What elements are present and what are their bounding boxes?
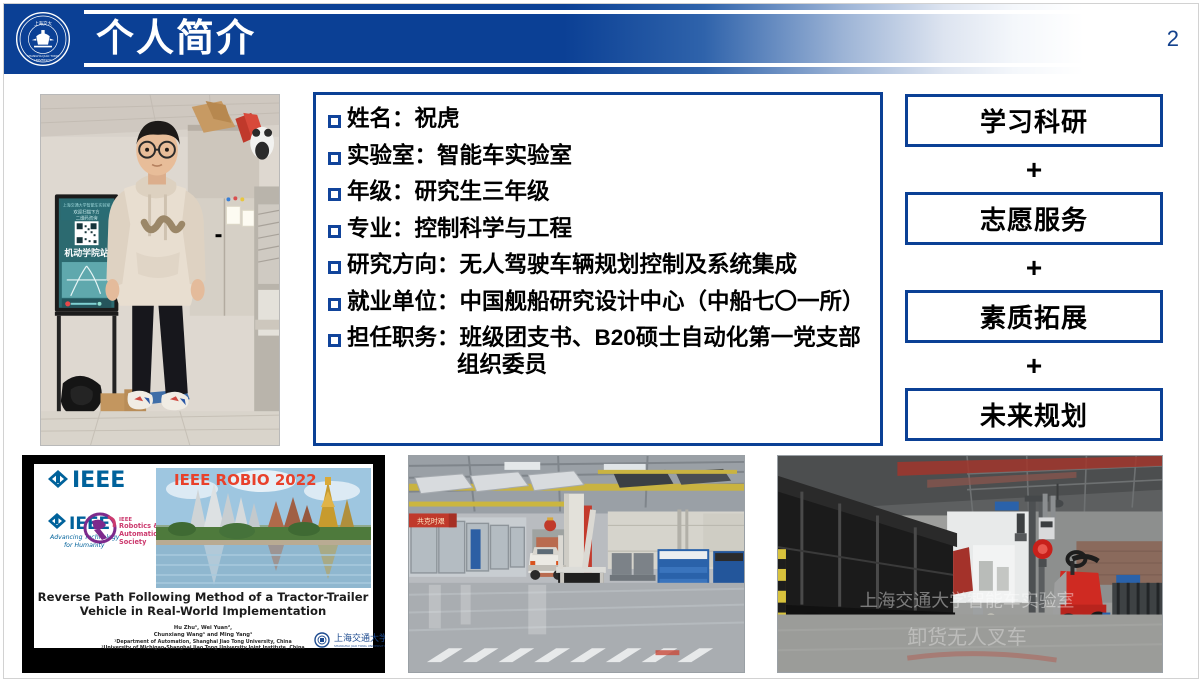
list-item-text: 姓名：祝虎 (347, 106, 460, 133)
square-bullet-icon (328, 261, 341, 274)
list-item-text: 担任职务：班级团支书、B20硕士自动化第一党支部组织委员 (347, 325, 861, 378)
student-portrait-photo: 上海交通大学智能车实验室 欢迎扫描下方 二维码咨询 机动学院站 (40, 94, 280, 446)
list-item-text: 研究方向：无人驾驶车辆规划控制及系统集成 (347, 252, 797, 279)
svg-text:IEEE: IEEE (72, 468, 125, 493)
portrait-illustration: 上海交通大学智能车实验室 欢迎扫描下方 二维码咨询 机动学院站 (41, 95, 279, 445)
page-title: 个人简介 (96, 15, 256, 63)
title-rule-bottom (84, 63, 1122, 67)
list-item: 研究方向：无人驾驶车辆规划控制及系统集成 (328, 252, 872, 279)
list-item-text: 实验室：智能车实验室 (347, 143, 572, 170)
plus-separator-1: + (1026, 147, 1042, 192)
list-item: 姓名：祝虎 (328, 106, 872, 133)
pillar-label: 志愿服务 (980, 200, 1088, 237)
list-item: 担任职务：班级团支书、B20硕士自动化第一党支部组织委员 (328, 325, 872, 378)
pillar-label: 素质拓展 (980, 298, 1088, 335)
svg-text:SHANGHAI JIAO TONG UNIVERSITY: SHANGHAI JIAO TONG UNIVERSITY (334, 644, 385, 648)
svg-text:Reverse Path Following Method: Reverse Path Following Method of a Tract… (38, 590, 369, 604)
svg-text:机动学院站: 机动学院站 (64, 247, 109, 259)
list-item-text: 年级：研究生三年级 (347, 179, 550, 206)
svg-text:¹Department of Automation, Sha: ¹Department of Automation, Shanghai Jiao… (114, 639, 291, 645)
forklift-illustration: 上海交通大学智能车实验室 卸货无人叉车 (778, 456, 1162, 672)
sjtu-university-seal-icon: 上海交大 SHANGHAI JIAO TONG UNIVERSITY (15, 11, 71, 67)
square-bullet-icon (328, 298, 341, 311)
svg-text:Robotics &: Robotics & (119, 522, 159, 530)
conference-venue-photo: IEEE ROBIO 2022 (156, 468, 371, 588)
svg-text:IEEE ROBIO 2022: IEEE ROBIO 2022 (174, 471, 317, 489)
pillar-box-quality-development[interactable]: 素质拓展 (905, 290, 1163, 343)
profile-info-box: 姓名：祝虎 实验室：智能车实验室 年级：研究生三年级 专业：控制科学与工程 研究… (313, 92, 883, 446)
svg-text:欢迎扫描下方: 欢迎扫描下方 (74, 208, 101, 215)
slide-canvas: 上海交大 SHANGHAI JIAO TONG UNIVERSITY 个人简介 … (0, 0, 1203, 683)
svg-text:Society: Society (119, 538, 147, 546)
list-item: 年级：研究生三年级 (328, 179, 872, 206)
list-item: 实验室：智能车实验室 (328, 143, 872, 170)
pillar-box-future-plan[interactable]: 未来规划 (905, 388, 1163, 441)
square-bullet-icon (328, 225, 341, 238)
square-bullet-icon (328, 115, 341, 128)
plus-separator-3: + (1026, 343, 1042, 388)
page-number: 2 (1167, 26, 1179, 52)
svg-text:Vehicle in Real-World Implemen: Vehicle in Real-World Implementation (80, 604, 327, 618)
title-rule-top (84, 10, 1122, 14)
ieee-robio-2022-paper-title-slide: IEEE IEEE Advancing Technology for Human… (22, 455, 385, 673)
watermark-line-2: 卸货无人叉车 (907, 626, 1026, 649)
growth-pillars-column: 学习科研 + 志愿服务 + 素质拓展 + 未来规划 (905, 94, 1163, 441)
svg-text:Chunxiang Wang¹ and Ming Yang¹: Chunxiang Wang¹ and Ming Yang¹ (154, 632, 253, 638)
factory-illustration: 共克时艰 (409, 456, 744, 672)
svg-text:上海交通大学: 上海交通大学 (334, 632, 385, 644)
pillar-label: 学习科研 (980, 102, 1088, 139)
square-bullet-icon (328, 188, 341, 201)
watermark-line-1: 上海交通大学智能车实验室 (860, 591, 1075, 612)
svg-text:共克时艰: 共克时艰 (417, 516, 445, 525)
svg-text:Hu Zhu¹, Wei Yuan²,: Hu Zhu¹, Wei Yuan², (174, 625, 232, 631)
list-item-text: 就业单位：中国舰船研究设计中心（中船七〇一所） (347, 289, 865, 316)
square-bullet-icon (328, 152, 341, 165)
list-item: 就业单位：中国舰船研究设计中心（中船七〇一所） (328, 289, 872, 316)
square-bullet-icon (328, 334, 341, 347)
svg-text:UNIVERSITY: UNIVERSITY (34, 58, 51, 62)
university-logo-block: 上海交大 SHANGHAI JIAO TONG UNIVERSITY (4, 4, 82, 74)
pillar-box-volunteer-service[interactable]: 志愿服务 (905, 192, 1163, 245)
factory-workshop-autonomous-vehicle-photo: 共克时艰 (408, 455, 745, 673)
list-item-text: 专业：控制科学与工程 (347, 216, 572, 243)
plus-separator-2: + (1026, 245, 1042, 290)
slide-header: 上海交大 SHANGHAI JIAO TONG UNIVERSITY 个人简介 … (4, 4, 1199, 74)
poster-illustration: IEEE IEEE Advancing Technology for Human… (22, 455, 385, 673)
svg-text:上海交大: 上海交大 (34, 20, 52, 27)
svg-text:²University of Michigan-Shangh: ²University of Michigan-Shanghai Jiao To… (101, 645, 304, 651)
svg-text:上海交通大学智能车实验室: 上海交通大学智能车实验室 (63, 202, 111, 207)
autonomous-forklift-unloading-photo: 上海交通大学智能车实验室 卸货无人叉车 (777, 455, 1163, 673)
pillar-box-study-research[interactable]: 学习科研 (905, 94, 1163, 147)
pillar-label: 未来规划 (980, 396, 1088, 433)
list-item: 专业：控制科学与工程 (328, 216, 872, 243)
safety-post (778, 549, 786, 622)
svg-text:二维码咨询: 二维码咨询 (76, 214, 98, 221)
